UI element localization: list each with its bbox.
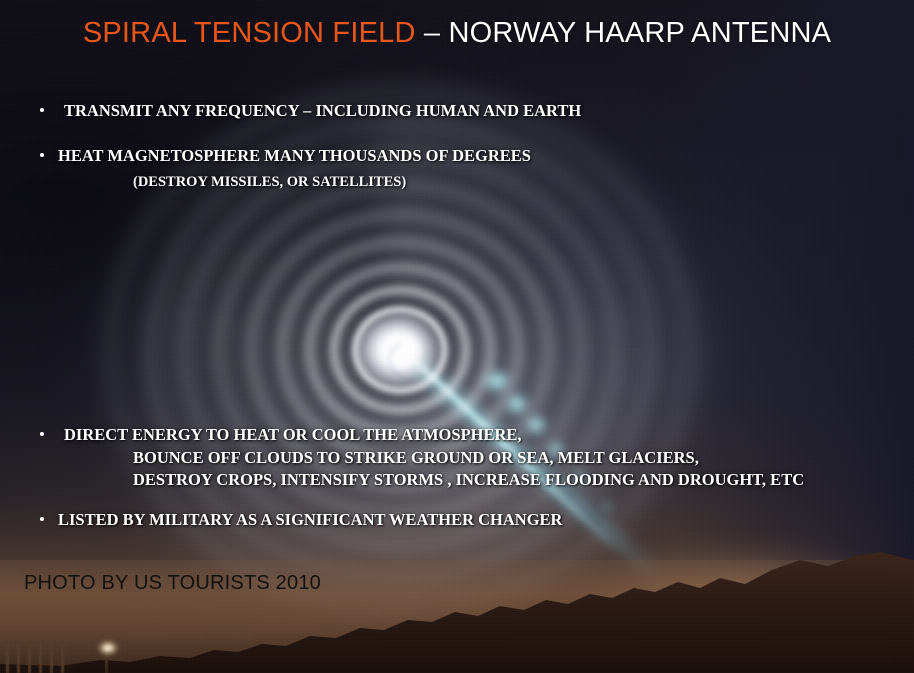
title-plain-text: – NORWAY HAARP ANTENNA	[416, 17, 832, 49]
bullet-subline-destroy-crops: DESTROY CROPS, INTENSIFY STORMS , INCREA…	[133, 470, 804, 490]
lamp-light	[97, 640, 119, 656]
bullet-item-direct-energy: DIRECT ENERGY TO HEAT OR COOL THE ATMOSP…	[40, 425, 522, 445]
bullet-text: TRANSMIT ANY FREQUENCY – INCLUDING HUMAN…	[58, 101, 581, 121]
bullet-subline-destroy-missiles: (DESTROY MISSILES, OR SATELLITES)	[133, 174, 406, 191]
title-accent-text: SPIRAL TENSION FIELD	[83, 17, 416, 49]
bullet-item-transmit-frequency: TRANSMIT ANY FREQUENCY – INCLUDING HUMAN…	[40, 101, 581, 121]
bullet-text: HEAT MAGNETOSPHERE MANY THOUSANDS OF DEG…	[58, 146, 531, 166]
photo-credit: PHOTO BY US TOURISTS 2010	[24, 572, 321, 595]
bullet-dot-icon	[40, 153, 44, 157]
bullet-dot-icon	[40, 517, 44, 521]
bullet-text: DIRECT ENERGY TO HEAT OR COOL THE ATMOSP…	[58, 425, 522, 445]
bullet-item-weather-changer: LISTED BY MILITARY AS A SIGNIFICANT WEAT…	[40, 510, 562, 530]
page-title: SPIRAL TENSION FIELD – NORWAY HAARP ANTE…	[0, 17, 914, 50]
slide-canvas: SPIRAL TENSION FIELD – NORWAY HAARP ANTE…	[0, 0, 914, 673]
bullet-text: LISTED BY MILITARY AS A SIGNIFICANT WEAT…	[58, 510, 562, 530]
fence-posts	[6, 645, 68, 673]
bullet-subline-bounce-off-clouds: BOUNCE OFF CLOUDS TO STRIKE GROUND OR SE…	[133, 448, 699, 468]
bullet-item-heat-magnetosphere: HEAT MAGNETOSPHERE MANY THOUSANDS OF DEG…	[40, 146, 531, 166]
bullet-dot-icon	[40, 108, 44, 112]
bullet-dot-icon	[40, 432, 44, 436]
